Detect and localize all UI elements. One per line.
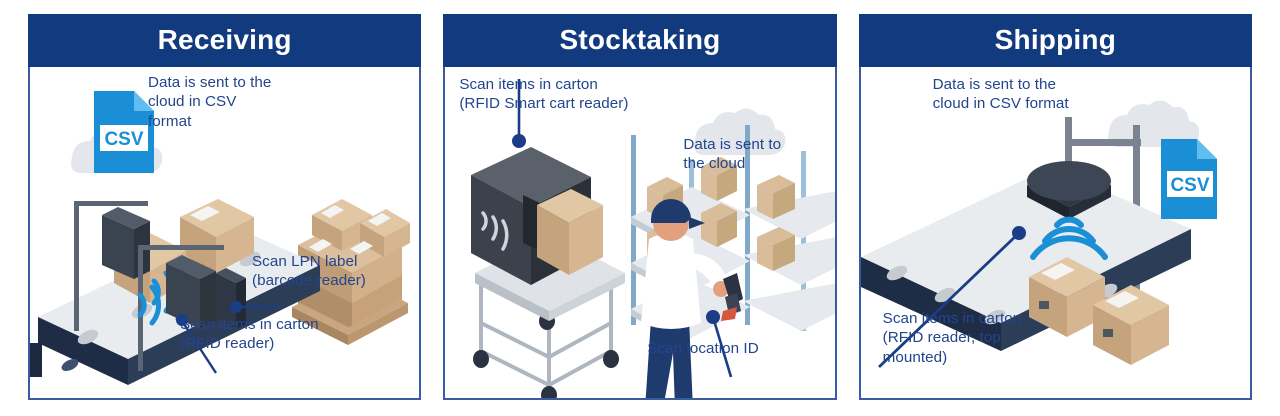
panel-stocktaking: Stocktaking: [443, 14, 836, 400]
caption-rfid-carton-note: Scan items in carton (RFID reader): [180, 315, 390, 354]
panel-shipping: Shipping: [859, 14, 1252, 400]
csv-file-icon: CSV: [1161, 139, 1217, 219]
panel-title-stocktaking: Stocktaking: [443, 14, 836, 67]
panel-title-shipping: Shipping: [859, 14, 1252, 67]
caption-cloud-csv-note: Data is sent to the cloud in CSV format: [148, 73, 328, 131]
panel-receiving: Receiving: [28, 14, 421, 400]
caption-top-rfid-note: Scan items in carton (RFID reader, top m…: [883, 309, 1083, 367]
csv-label: CSV: [1170, 175, 1209, 196]
panel-body-shipping: CSV Data is sent to the cloud in CSV for…: [859, 67, 1252, 400]
caption-location-id-note: Scan location ID: [647, 339, 827, 358]
panel-title-receiving: Receiving: [28, 14, 421, 67]
caption-cloud-csv-note: Data is sent to the cloud in CSV format: [933, 75, 1133, 114]
process-diagram: Receiving: [0, 0, 1280, 416]
carton: [537, 189, 603, 275]
callout-dot: [230, 301, 242, 313]
caption-cloud-note: Data is sent to the cloud: [683, 135, 823, 174]
panel-body-receiving: CSV Data is sent to the cloud in CSV for…: [28, 67, 421, 400]
caption-smart-cart-note: Scan items in carton (RFID Smart cart re…: [459, 75, 689, 114]
caption-lpn-label-note: Scan LPN label (barcode reader): [252, 252, 421, 291]
rfid-smart-cart: [471, 147, 625, 400]
panel-body-stocktaking: Scan items in carton (RFID Smart cart re…: [443, 67, 836, 400]
csv-label: CSV: [104, 129, 143, 150]
csv-file-icon: CSV: [94, 91, 154, 173]
